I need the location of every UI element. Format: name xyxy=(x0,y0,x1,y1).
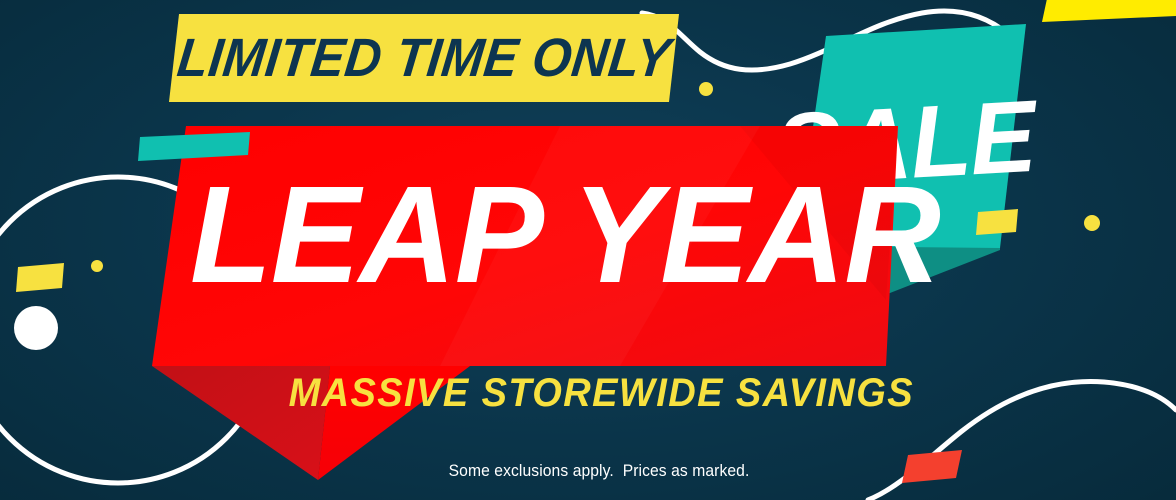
promo-banner: SALE xyxy=(0,0,1176,500)
fineprint-text: Some exclusions apply. Prices as marked. xyxy=(47,462,1129,479)
decoration-layer-front xyxy=(0,0,1176,500)
white-dot-on-ring xyxy=(14,306,58,350)
subheadline-text: MASSIVE STOREWIDE SAVINGS xyxy=(29,373,1146,413)
